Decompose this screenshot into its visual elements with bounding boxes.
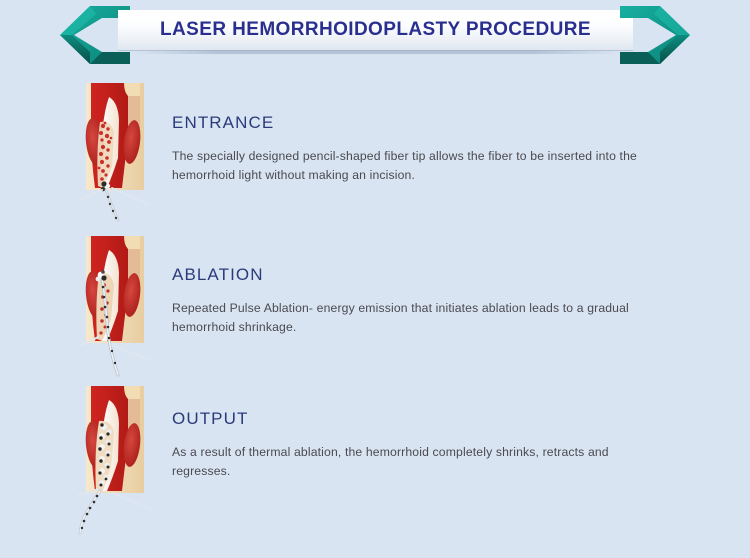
chevron-right-icon [614,4,692,66]
section-body-entrance: The specially designed pencil-shaped fib… [172,147,642,185]
section-heading-ablation: ABLATION [172,265,642,285]
step-text-entrance: ENTRANCE The specially designed pencil-s… [172,113,642,185]
illustration-ablation [78,233,170,385]
illustration-entrance [78,80,170,232]
page-title: LASER HEMORRHOIDOPLASTY PROCEDURE [118,10,633,50]
step-text-ablation: ABLATION Repeated Pulse Ablation- energy… [172,265,642,337]
section-body-ablation: Repeated Pulse Ablation- energy emission… [172,299,642,337]
illustration-output [78,383,170,535]
section-heading-entrance: ENTRANCE [172,113,642,133]
section-heading-output: OUTPUT [172,409,642,429]
step-text-output: OUTPUT As a result of thermal ablation, … [172,409,642,481]
section-body-output: As a result of thermal ablation, the hem… [172,443,642,481]
banner: LASER HEMORRHOIDOPLASTY PROCEDURE [0,0,750,72]
banner-bar-shadow [130,50,622,54]
